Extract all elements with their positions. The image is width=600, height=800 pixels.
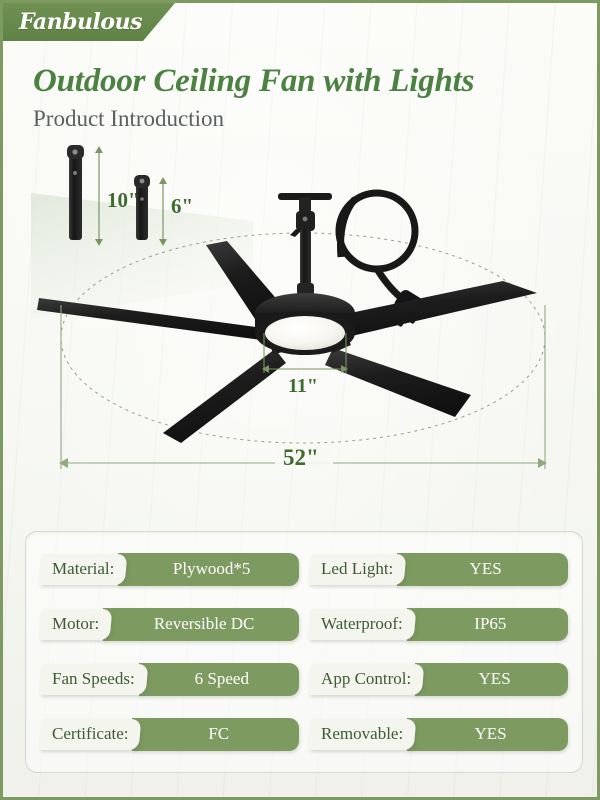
spec-row-fan-speeds: Fan Speeds: 6 Speed (40, 652, 299, 707)
spec-label-led-light: Led Light: (308, 554, 407, 585)
downrod-short (134, 175, 150, 240)
spec-label-material: Material: (39, 554, 128, 585)
dimension-label-6in: 6" (171, 194, 193, 218)
downrod-long (67, 145, 84, 240)
brand-logo-text: Fanbulous (3, 11, 142, 33)
product-illustration: 10" 6" (3, 133, 600, 513)
product-infographic: Fanbulous Outdoor Ceiling Fan with Light… (0, 0, 600, 800)
page-title: Outdoor Ceiling Fan with Lights (33, 65, 474, 98)
spec-value-material: Plywood*5 (118, 553, 299, 586)
spec-row-motor: Motor: Reversible DC (40, 597, 299, 652)
spec-value-certificate: FC (132, 718, 299, 751)
spec-value-motor: Reversible DC (103, 608, 299, 641)
spec-label-removable: Removable: (308, 719, 417, 750)
spec-value-waterproof: IP65 (407, 608, 568, 641)
spec-value-app-control: YES (415, 663, 568, 696)
specification-panel: Material: Plywood*5 Led Light: YES Motor… (25, 531, 583, 773)
power-cord (339, 193, 415, 303)
spec-value-removable: YES (407, 718, 568, 751)
led-light-disc (265, 316, 345, 350)
spec-label-certificate: Certificate: (39, 719, 142, 750)
spec-row-app-control: App Control: YES (309, 652, 568, 707)
spec-label-motor: Motor: (39, 609, 113, 640)
spec-row-certificate: Certificate: FC (40, 707, 299, 762)
spec-row-waterproof: Waterproof: IP65 (309, 597, 568, 652)
dimension-label-52in: 52" (283, 445, 319, 470)
spec-label-app-control: App Control: (308, 664, 425, 695)
brand-logo-banner: Fanbulous (3, 3, 175, 41)
spec-row-led-light: Led Light: YES (309, 542, 568, 597)
spec-row-removable: Removable: YES (309, 707, 568, 762)
spec-value-led-light: YES (397, 553, 568, 586)
dimension-label-11in: 11" (288, 375, 318, 397)
spec-label-fan-speeds: Fan Speeds: (39, 664, 148, 695)
dimension-label-10in: 10" (107, 188, 140, 212)
page-subtitle: Product Introduction (33, 107, 224, 130)
spec-row-material: Material: Plywood*5 (40, 542, 299, 597)
specification-grid: Material: Plywood*5 Led Light: YES Motor… (26, 532, 582, 772)
spec-label-waterproof: Waterproof: (308, 609, 416, 640)
spec-value-fan-speeds: 6 Speed (139, 663, 299, 696)
